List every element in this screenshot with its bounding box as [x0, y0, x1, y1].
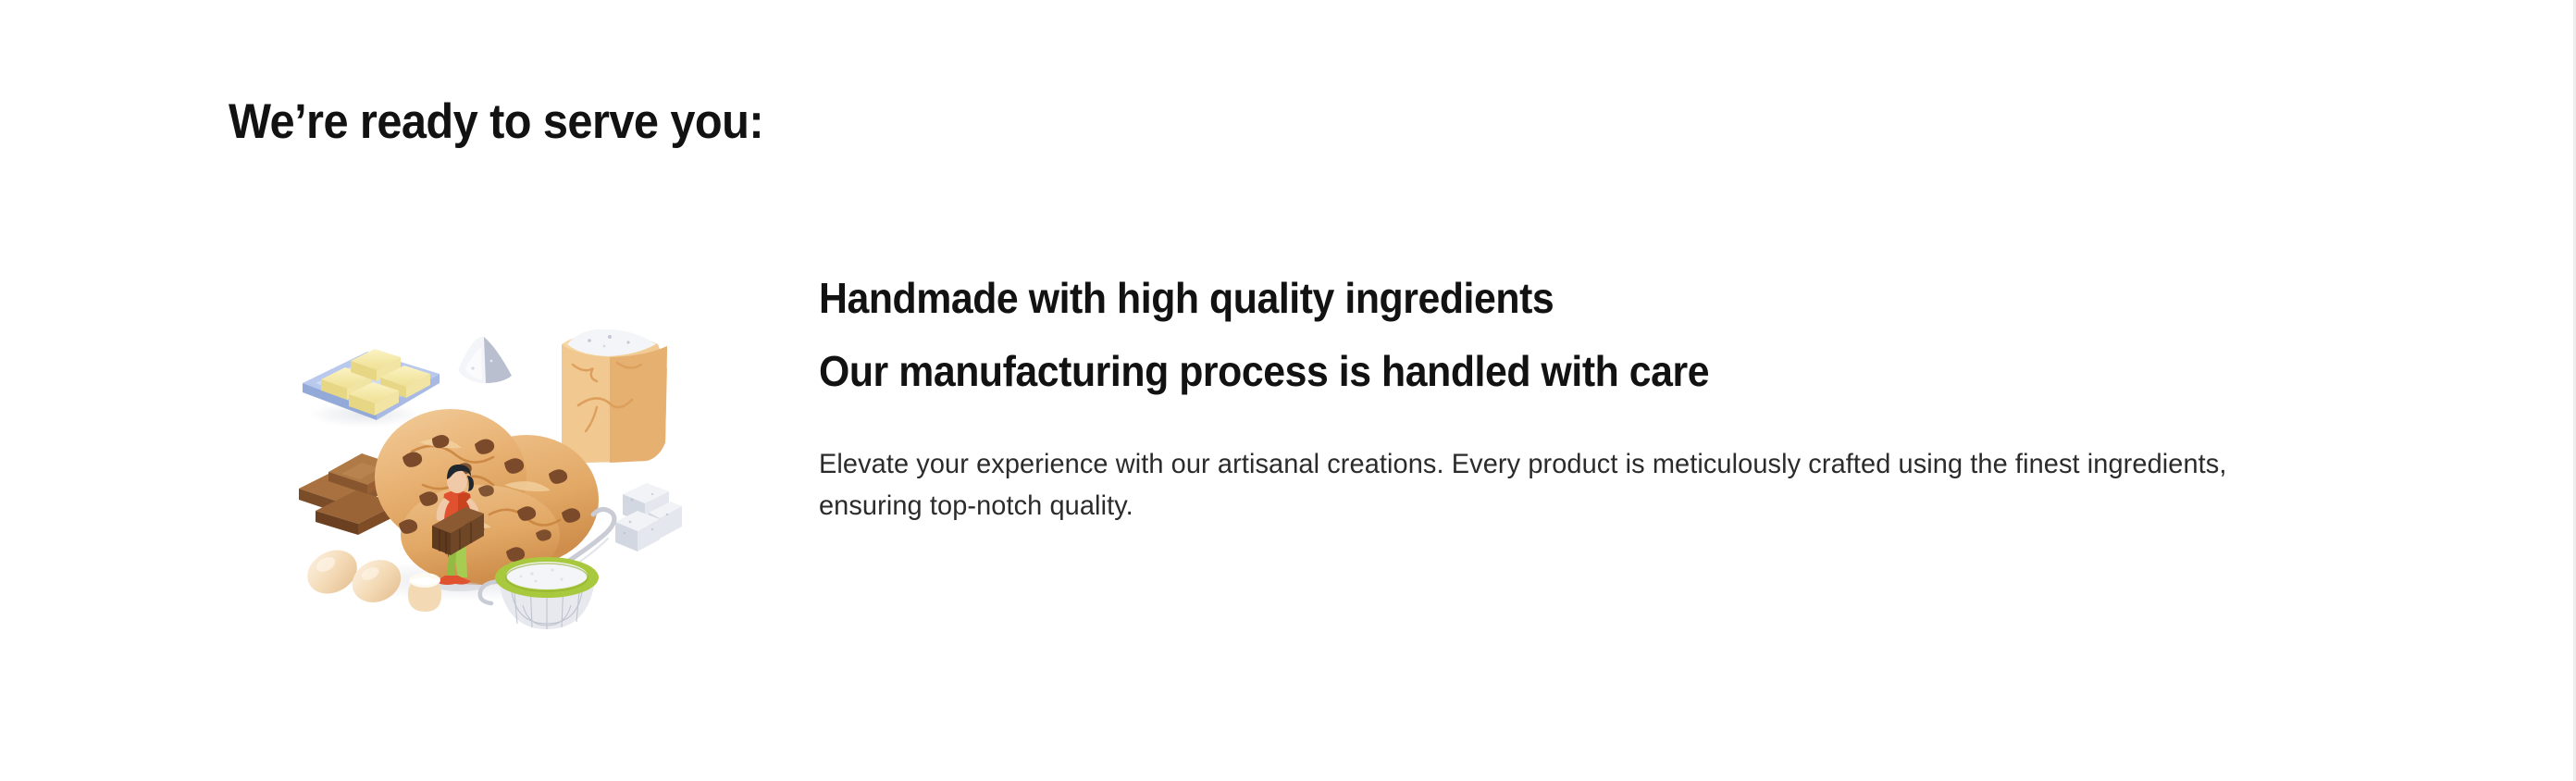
- sugar-cubes: [615, 483, 682, 552]
- page-root: We’re ready to serve you:: [0, 0, 2576, 781]
- baking-ingredients-illustration: [284, 304, 682, 637]
- feature-description: Elevate your experience with our artisan…: [819, 443, 2248, 527]
- page-title: We’re ready to serve you:: [229, 94, 763, 149]
- feature-row: Handmade with high quality ingredients O…: [229, 268, 2301, 637]
- feature-title-primary: Handmade with high quality ingredients: [819, 268, 2198, 329]
- flour-mound: [458, 337, 512, 383]
- feature-text-column: Handmade with high quality ingredients O…: [737, 268, 2301, 527]
- flour-sack: [562, 329, 667, 463]
- feature-title-secondary: Our manufacturing process is handled wit…: [819, 341, 2198, 402]
- illustration-column: [229, 268, 737, 637]
